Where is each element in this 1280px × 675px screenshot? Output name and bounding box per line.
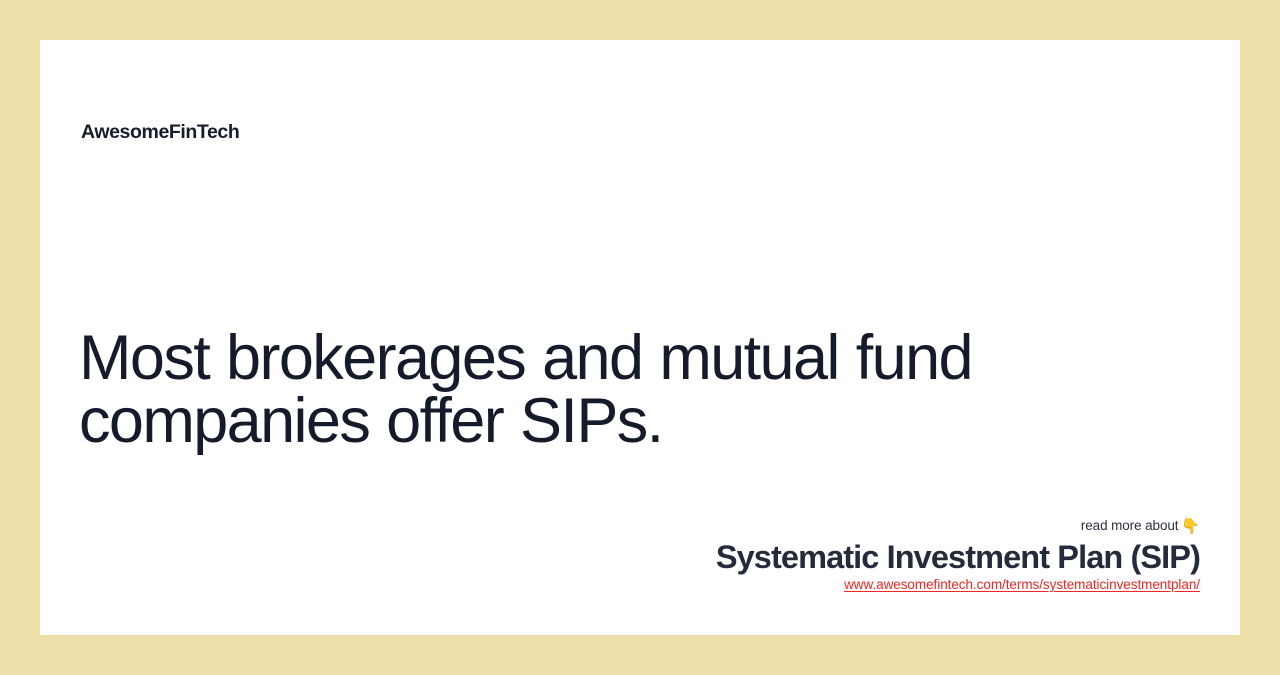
slide-canvas: AwesomeFinTech Most brokerages and mutua… [0,0,1280,675]
content-card: AwesomeFinTech Most brokerages and mutua… [40,40,1240,635]
pointing-down-icon: 👇 [1181,518,1200,535]
term-url-link[interactable]: www.awesomefintech.com/terms/systematici… [844,576,1200,594]
read-more-row: read more about👇 [440,516,1200,537]
footer-block: read more about👇 Systematic Investment P… [440,516,1200,594]
page-title: Most brokerages and mutual fund companie… [79,327,1209,453]
term-title: Systematic Investment Plan (SIP) [440,539,1200,575]
brand-logo-text: AwesomeFinTech [81,122,239,143]
read-more-label: read more about [1081,518,1179,533]
